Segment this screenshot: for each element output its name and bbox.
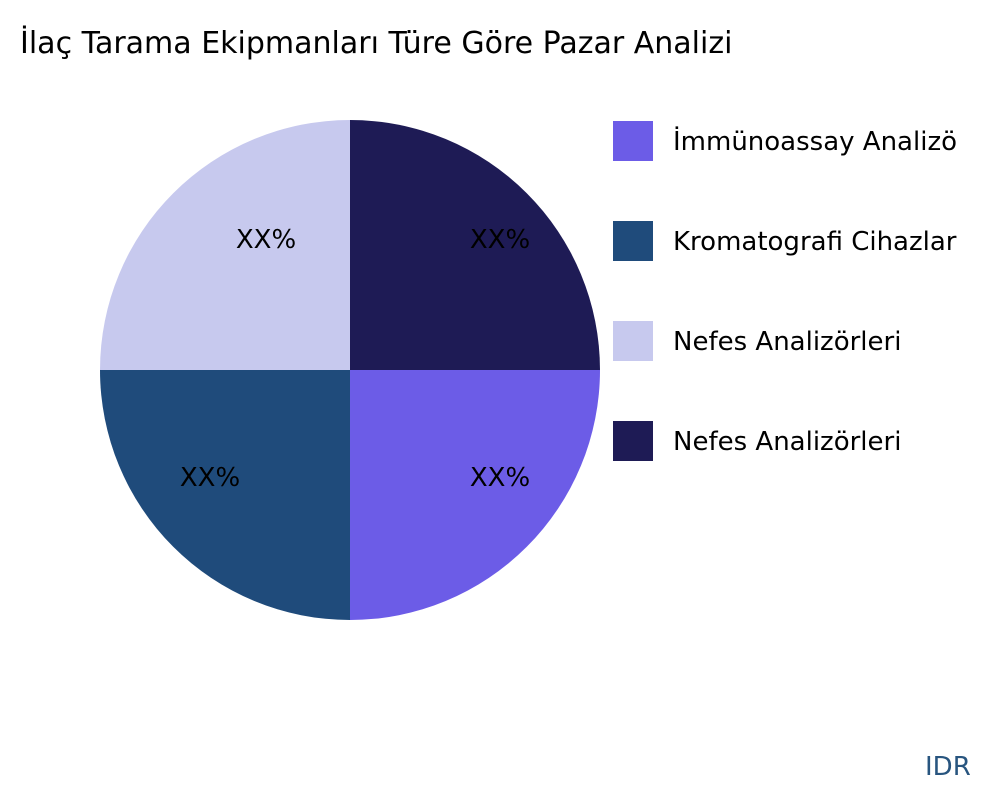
pie-slice-label: XX% [470, 227, 530, 253]
legend-color-swatch [613, 321, 653, 361]
legend-item[interactable]: Nefes Analizörleri [613, 321, 1000, 421]
legend-item-label: Nefes Analizörleri [673, 421, 901, 461]
chart-legend: İmmünoassay Analizö Kromatografi Cihazla… [613, 121, 1000, 521]
legend-item-label: Nefes Analizörleri [673, 321, 901, 361]
pie-chart-figure: İlaç Tarama Ekipmanları Türe Göre Pazar … [0, 0, 1000, 800]
brand-logo: IDR [925, 752, 971, 782]
legend-item-label: Kromatografi Cihazlar [673, 221, 957, 261]
legend-item[interactable]: Kromatografi Cihazlar [613, 221, 1000, 321]
legend-color-swatch [613, 221, 653, 261]
pie-slice-nefes-analizorleri-light[interactable] [100, 120, 350, 370]
pie-chart-plot-area: XX% XX% XX% XX% [100, 120, 600, 620]
legend-item[interactable]: Nefes Analizörleri [613, 421, 1000, 521]
legend-item-label: İmmünoassay Analizö [673, 121, 957, 161]
pie-slice-label: XX% [236, 227, 296, 253]
legend-item[interactable]: İmmünoassay Analizö [613, 121, 1000, 221]
legend-color-swatch [613, 121, 653, 161]
pie-svg [100, 120, 600, 620]
pie-slice-kromatografi-cihazlar[interactable] [100, 370, 350, 620]
chart-title: İlaç Tarama Ekipmanları Türe Göre Pazar … [20, 26, 732, 62]
pie-slice-immunoassay-analizo[interactable] [350, 370, 600, 620]
legend-color-swatch [613, 421, 653, 461]
pie-slice-label: XX% [180, 465, 240, 491]
pie-slice-label: XX% [470, 465, 530, 491]
